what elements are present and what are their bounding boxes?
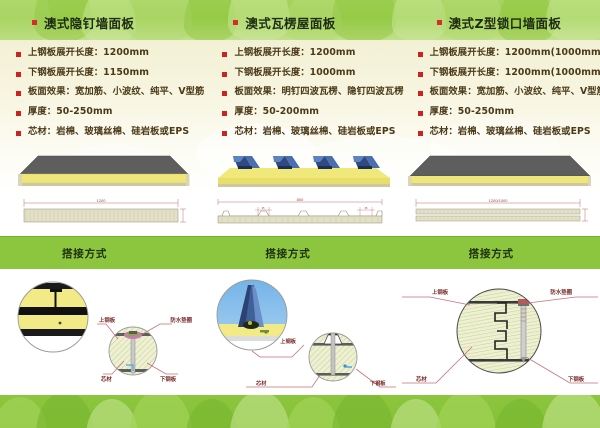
spec-line: 下钢板展开长度：1200mm(1000mm) — [418, 68, 600, 79]
product-image-roof-panel: 800 — [200, 152, 400, 236]
detail-column-3: 上钢板 防水垫圈 芯材 下钢板 — [400, 269, 600, 395]
bullet-square-icon — [437, 20, 442, 25]
detail-label-top-plate: 上钢板 — [280, 337, 296, 345]
bullet-square-icon — [233, 20, 238, 25]
dimension-label: 800 — [297, 197, 304, 202]
bullet-square-icon — [418, 91, 423, 96]
detail-label-bottom-plate: 下钢板 — [568, 375, 585, 383]
bullet-square-icon — [222, 131, 227, 136]
bullet-square-icon — [16, 52, 21, 57]
detail-column-2: 上钢板 芯材 下钢板 — [200, 269, 400, 395]
bullet-square-icon — [32, 20, 37, 25]
spec-text: 厚度：50-250mm — [430, 107, 515, 118]
wall-panel-technical-drawing: 1200 — [0, 196, 200, 230]
detail-label-bottom-plate: 下钢板 — [370, 379, 386, 387]
spec-column-2: 上钢板展开长度：1200mm 下钢板展开长度：1000mm 板面效果：明钉四波瓦… — [204, 40, 403, 146]
spec-text: 厚度：50-200mm — [234, 107, 319, 118]
footer-leaf-pattern — [0, 395, 600, 428]
dimension-label: 1200 — [97, 198, 107, 203]
spec-line: 下钢板展开长度：1150mm — [16, 68, 204, 79]
header-title-1: 澳式隐钉墙面板 — [0, 0, 195, 40]
wall-panel-lap-detail: 上钢板 防水垫圈 芯材 下钢板 — [0, 269, 200, 395]
spec-column-1: 上钢板展开长度：1200mm 下钢板展开长度：1150mm 板面效果：宽加筋、小… — [0, 40, 204, 146]
bullet-square-icon — [418, 72, 423, 77]
spec-text: 芯材：岩棉、玻璃丝棉、硅岩板或EPS — [28, 127, 189, 138]
bullet-square-icon — [222, 72, 227, 77]
band-label-2: 搭接方式 — [193, 237, 396, 270]
spec-text: 板面效果：宽加筋、小波纹、纯平、V型筋 — [430, 87, 600, 98]
bullet-square-icon — [16, 111, 21, 116]
poster-page: 澳式隐钉墙面板 澳式瓦楞屋面板 澳式Z型锁口墙面板 上钢板展开长度：1200mm… — [0, 0, 600, 428]
spec-line: 上钢板展开长度：1200mm(1000mm) — [418, 48, 600, 59]
spec-text: 板面效果：宽加筋、小波纹、纯平、V型筋 — [28, 87, 204, 98]
lapping-method-band: 搭接方式 搭接方式 搭接方式 — [0, 236, 600, 270]
bullet-square-icon — [16, 91, 21, 96]
bullet-square-icon — [16, 131, 21, 136]
spec-line: 板面效果：宽加筋、小波纹、纯平、V型筋 — [16, 87, 204, 98]
detail-label-core: 芯材 — [101, 375, 112, 383]
detail-label-top-plate: 上钢板 — [99, 316, 116, 324]
spec-line: 厚度：50-200mm — [222, 107, 403, 118]
header-title-label: 澳式隐钉墙面板 — [44, 13, 134, 32]
roof-panel-technical-drawing: 800 — [200, 196, 400, 230]
header-title-3: 澳式Z型锁口墙面板 — [397, 0, 600, 40]
spec-text: 上钢板展开长度：1200mm — [234, 48, 355, 59]
spec-text: 上钢板展开长度：1200mm(1000mm) — [430, 48, 600, 59]
product-image-row: 1200 — [0, 152, 600, 236]
spec-line: 芯材：岩棉、玻璃丝棉、硅岩板或EPS — [16, 127, 204, 138]
product-image-wall-panel: 1200 — [0, 152, 200, 236]
spec-line: 上钢板展开长度：1200mm — [222, 48, 403, 59]
bullet-square-icon — [16, 72, 21, 77]
spec-line: 厚度：50-250mm — [418, 107, 600, 118]
detail-label-gasket: 防水垫圈 — [550, 288, 572, 296]
footer-band — [0, 395, 600, 428]
spec-text: 芯材：岩棉、玻璃丝棉、硅岩板或EPS — [234, 127, 395, 138]
zlock-panel-technical-drawing: 1200/1000 — [400, 196, 600, 230]
bullet-square-icon — [222, 91, 227, 96]
detail-label-bottom-plate: 下钢板 — [160, 375, 177, 383]
spec-text: 厚度：50-250mm — [28, 107, 113, 118]
spec-text: 上钢板展开长度：1200mm — [28, 48, 149, 59]
header-title-label: 澳式Z型锁口墙面板 — [449, 13, 562, 32]
header-band: 澳式隐钉墙面板 澳式瓦楞屋面板 澳式Z型锁口墙面板 — [0, 0, 600, 40]
spec-text: 芯材：岩棉、玻璃丝棉、硅岩板或EPS — [430, 127, 591, 138]
spec-section: 上钢板展开长度：1200mm 下钢板展开长度：1150mm 板面效果：宽加筋、小… — [0, 40, 600, 236]
detail-label-gasket: 防水垫圈 — [170, 316, 192, 324]
bullet-square-icon — [222, 111, 227, 116]
spec-line: 厚度：50-250mm — [16, 107, 204, 118]
header-title-2: 澳式瓦楞屋面板 — [195, 0, 396, 40]
spec-text: 下钢板展开长度：1000mm — [234, 68, 355, 79]
band-label-text: 搭接方式 — [265, 246, 310, 261]
spec-line: 板面效果：宽加筋、小波纹、纯平、V型筋 — [418, 87, 600, 98]
bullet-square-icon — [222, 52, 227, 57]
detail-section: 上钢板 防水垫圈 芯材 下钢板 — [0, 269, 600, 395]
band-label-text: 搭接方式 — [469, 246, 514, 261]
product-image-zlock-panel: 1200/1000 — [400, 152, 600, 236]
spec-line: 芯材：岩棉、玻璃丝棉、硅岩板或EPS — [418, 127, 600, 138]
detail-column-1: 上钢板 防水垫圈 芯材 下钢板 — [0, 269, 200, 395]
band-label-1: 搭接方式 — [0, 237, 193, 270]
spec-text: 板面效果：明钉四波瓦楞、隐钉四波瓦楞 — [234, 87, 403, 98]
spec-text: 下钢板展开长度：1150mm — [28, 68, 149, 79]
svg-text:35: 35 — [365, 206, 368, 210]
spec-line: 芯材：岩棉、玻璃丝棉、硅岩板或EPS — [222, 127, 403, 138]
svg-text:35: 35 — [262, 206, 265, 210]
zlock-panel-lap-detail: 上钢板 防水垫圈 芯材 下钢板 — [400, 269, 600, 395]
bullet-square-icon — [418, 111, 423, 116]
band-label-text: 搭接方式 — [62, 246, 107, 261]
detail-label-core: 芯材 — [256, 379, 267, 387]
bullet-square-icon — [418, 52, 423, 57]
band-label-3: 搭接方式 — [397, 237, 600, 270]
detail-label-core: 芯材 — [416, 375, 427, 383]
spec-line: 下钢板展开长度：1000mm — [222, 68, 403, 79]
spec-line: 上钢板展开长度：1200mm — [16, 48, 204, 59]
header-title-label: 澳式瓦楞屋面板 — [245, 13, 335, 32]
detail-label-top-plate: 上钢板 — [432, 288, 449, 296]
spec-line: 板面效果：明钉四波瓦楞、隐钉四波瓦楞 — [222, 87, 403, 98]
spec-text: 下钢板展开长度：1200mm(1000mm) — [430, 68, 600, 79]
bullet-square-icon — [418, 131, 423, 136]
dimension-label: 1200/1000 — [489, 198, 509, 203]
spec-column-3: 上钢板展开长度：1200mm(1000mm) 下钢板展开长度：1200mm(10… — [404, 40, 600, 146]
roof-panel-lap-detail: 上钢板 芯材 下钢板 — [200, 269, 400, 395]
